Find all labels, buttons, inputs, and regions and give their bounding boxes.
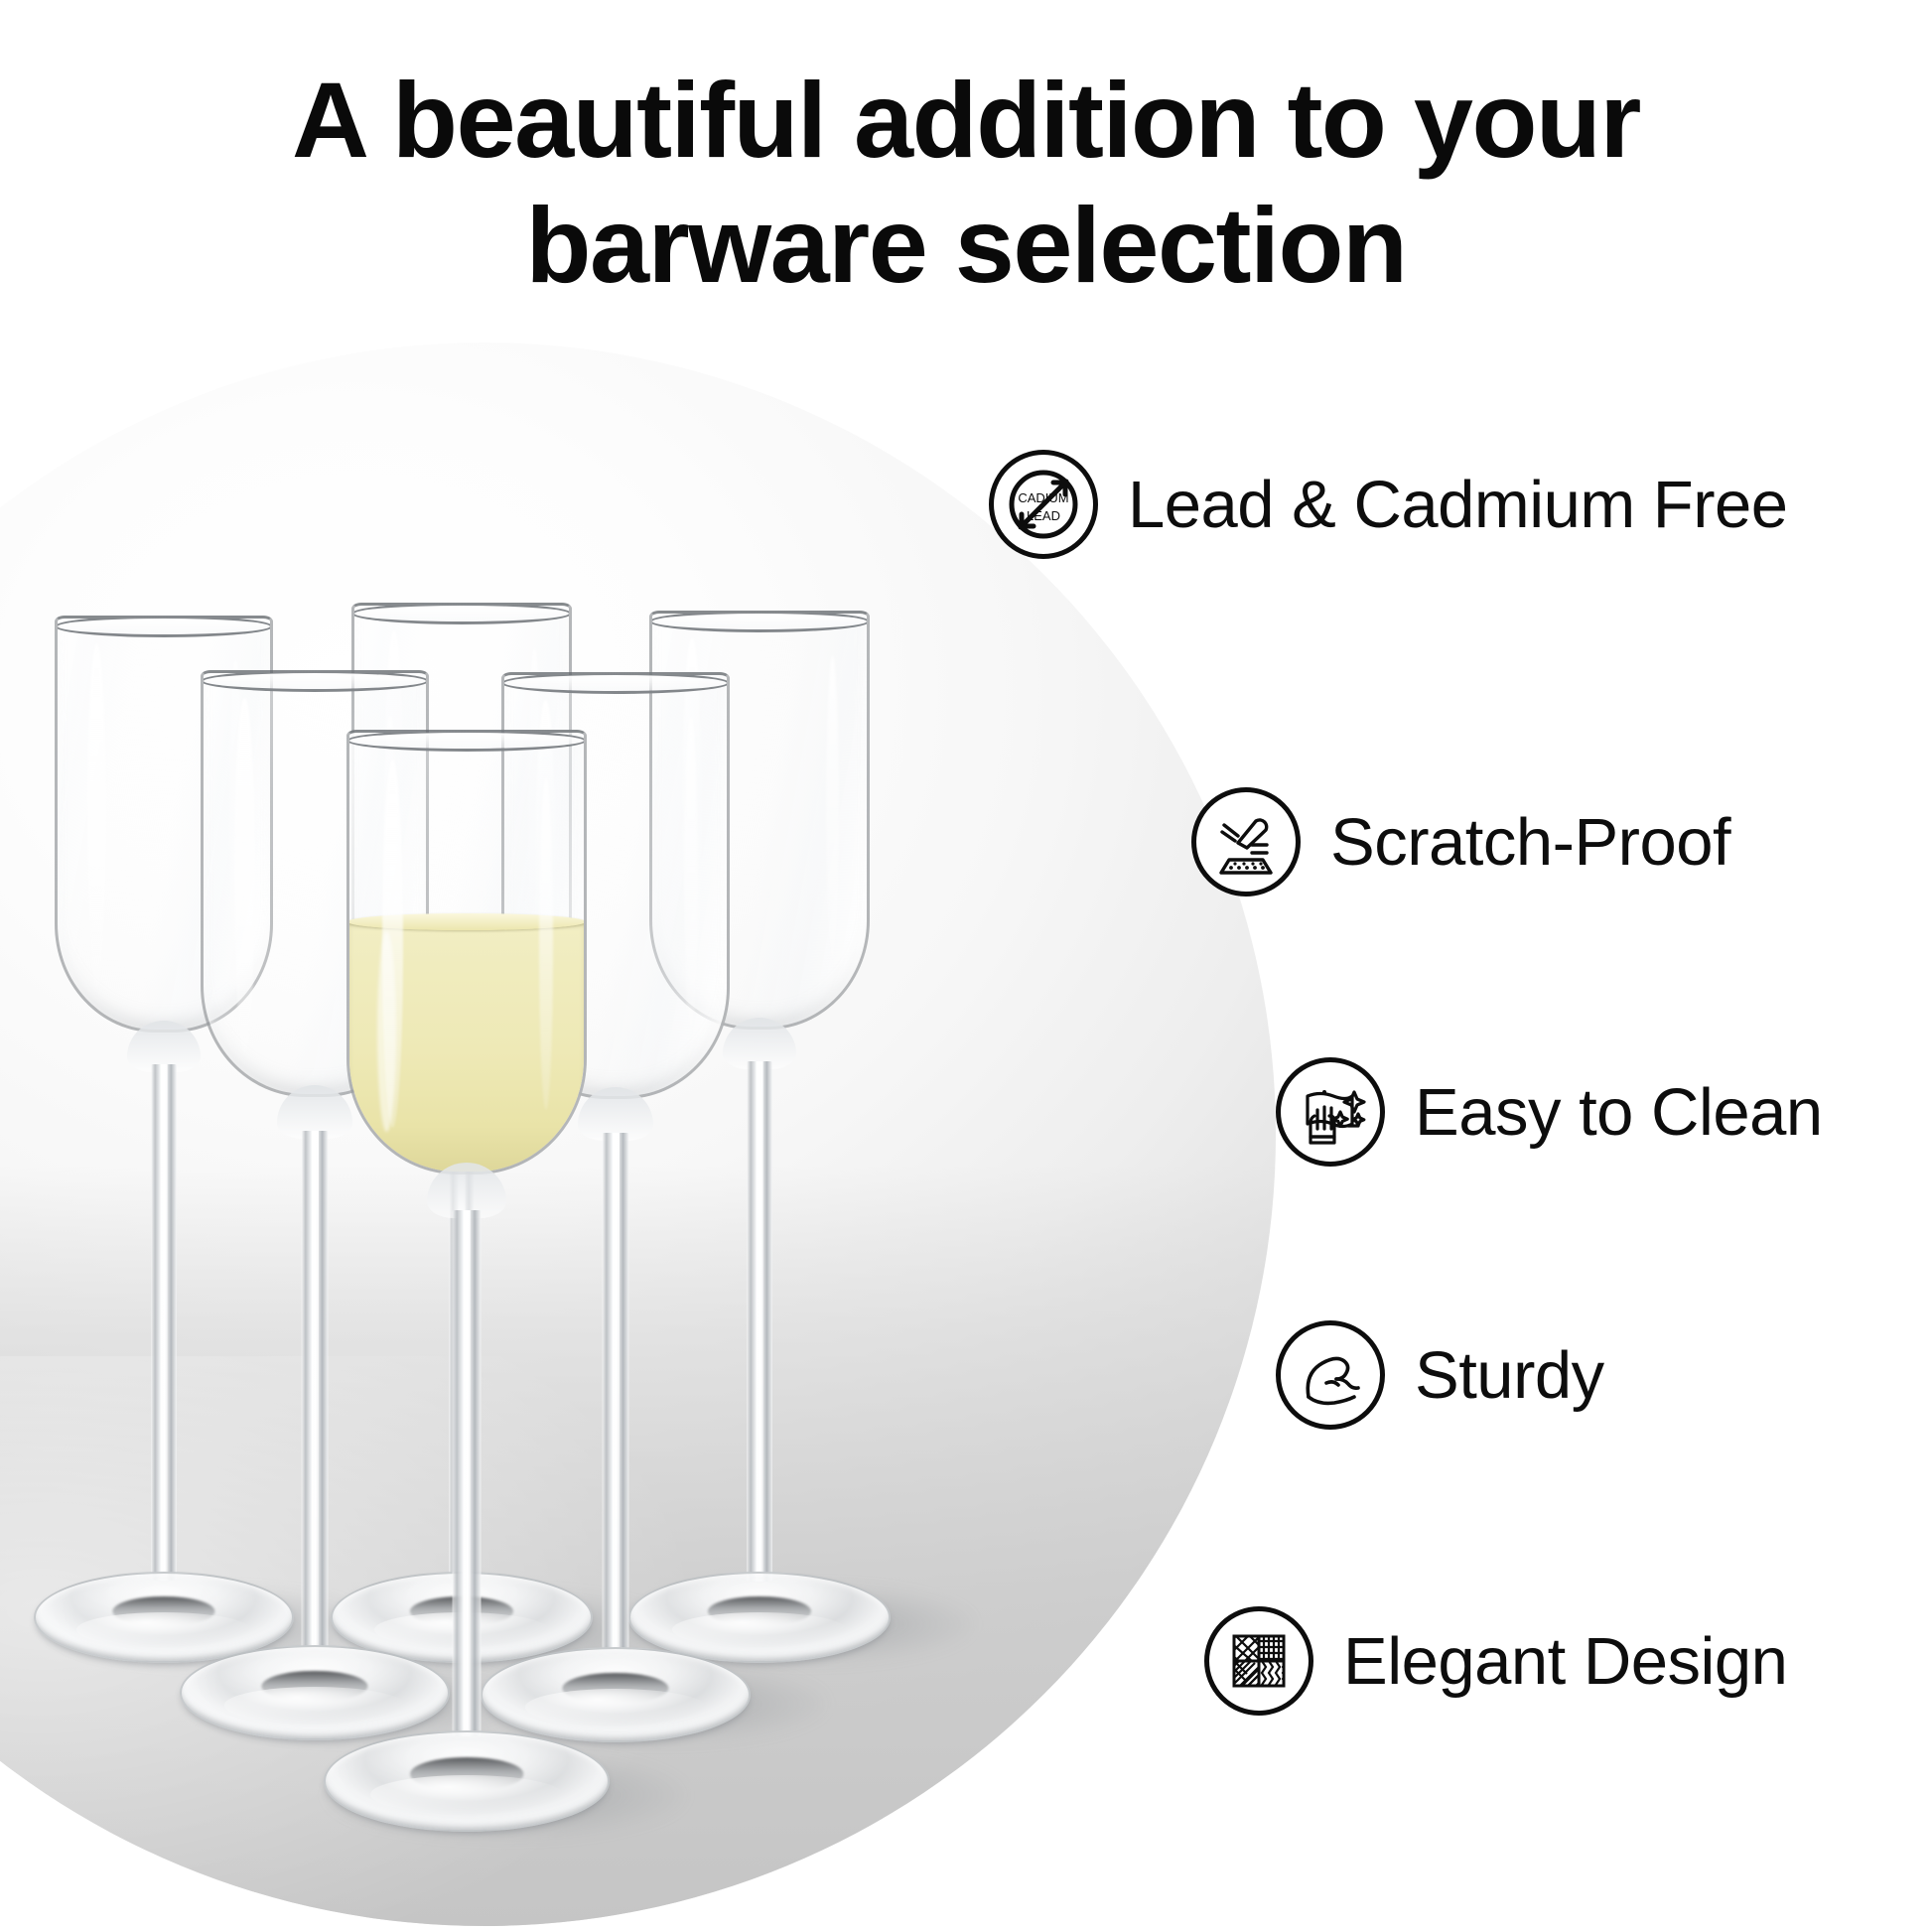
glass-stem xyxy=(453,1210,482,1736)
no-lead-cadmium-icon: CADIUM LEAD xyxy=(989,450,1098,559)
feature-item-elegant-design[interactable]: Elegant Design xyxy=(1204,1606,1787,1716)
flexed-bicep-icon xyxy=(1276,1320,1385,1430)
feature-item-scratch-proof[interactable]: Scratch-Proof xyxy=(1191,787,1730,897)
feature-list: CADIUM LEAD Lead & Cadmium Free xyxy=(0,0,1932,1932)
knife-scratch-surface-icon xyxy=(1191,787,1301,897)
champagne-flute-filled xyxy=(308,730,625,1832)
foot-sheen xyxy=(370,1775,562,1814)
icon-text-lead: LEAD xyxy=(1027,508,1060,523)
feature-item-sturdy[interactable]: Sturdy xyxy=(1276,1320,1604,1430)
feature-label-lead-cadmium-free: Lead & Cadmium Free xyxy=(1128,472,1788,538)
hand-wiping-cloth-sparkle-icon xyxy=(1276,1057,1385,1167)
product-feature-banner: A beautiful addition to your barware sel… xyxy=(0,0,1932,1932)
feature-label-scratch-proof: Scratch-Proof xyxy=(1330,809,1730,876)
feature-item-lead-cadmium-free[interactable]: CADIUM LEAD Lead & Cadmium Free xyxy=(989,450,1788,559)
pattern-swatch-grid-icon xyxy=(1204,1606,1313,1716)
glass-bowl-filled xyxy=(346,730,587,1174)
feature-item-easy-to-clean[interactable]: Easy to Clean xyxy=(1276,1057,1823,1167)
feature-label-elegant-design: Elegant Design xyxy=(1343,1628,1787,1695)
feature-label-sturdy: Sturdy xyxy=(1415,1342,1604,1409)
feature-label-easy-to-clean: Easy to Clean xyxy=(1415,1079,1823,1146)
glass-foot xyxy=(324,1730,610,1832)
icon-text-cadium: CADIUM xyxy=(1018,490,1068,505)
glass-rim xyxy=(346,730,587,752)
